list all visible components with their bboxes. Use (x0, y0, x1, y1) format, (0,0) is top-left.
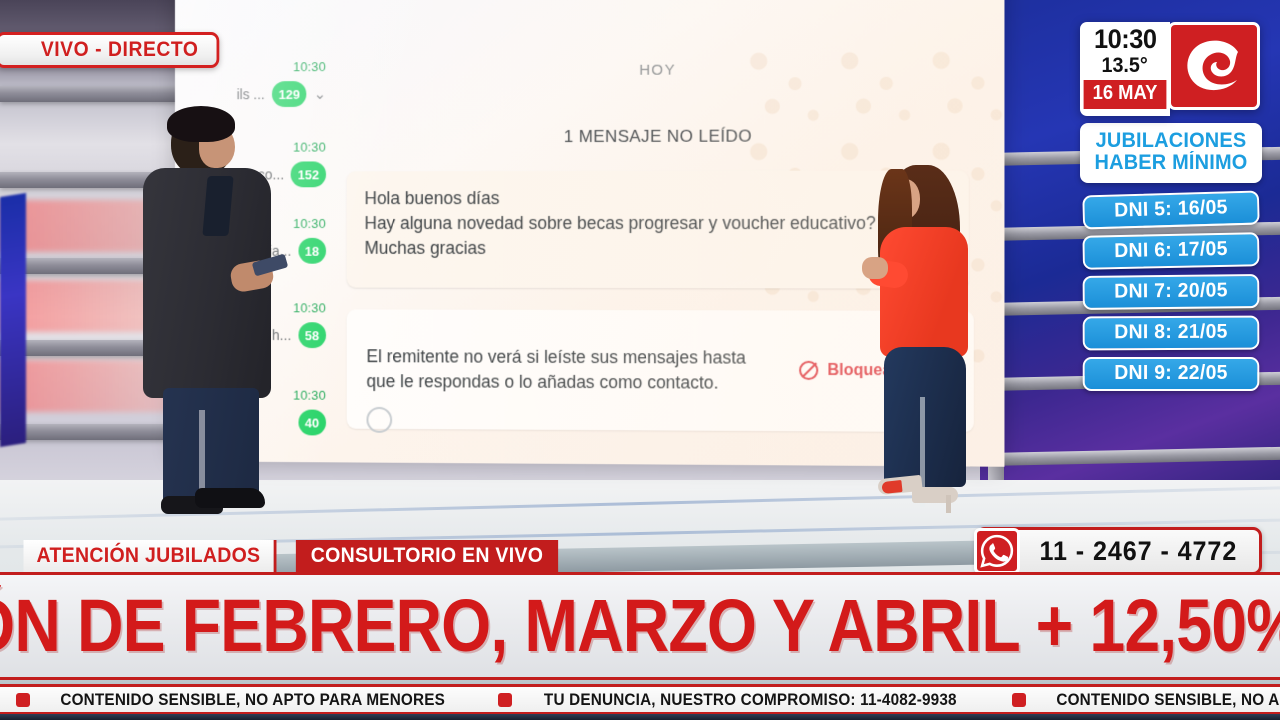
presenter-blouse (880, 227, 968, 357)
unread-count-badge: 129 (272, 81, 307, 107)
ticker-item: CONTENIDO SENSIBLE, NO APTO PARA MENORES (996, 690, 1280, 710)
emoji-icon[interactable] (366, 407, 392, 433)
top-right-graphics: 10:30 13.5° 16 MAY JUBILACIONES HABER MÍ… (1080, 22, 1262, 391)
presenter-jeans (884, 347, 966, 487)
headline-banner: LA INFLACIÓN DE FEBRERO, MARZO Y ABRIL +… (0, 572, 1280, 680)
presenter-shirt (202, 176, 233, 236)
broadcast-frame: 10:30 ils ... 129 ⌄ 10:30 o co... 152 10… (0, 0, 1280, 720)
segment-tag-primary: ATENCIÓN JUBILADOS (24, 540, 277, 572)
topic-chyron: JUBILACIONES HABER MÍNIMO (1080, 123, 1262, 183)
unread-divider: 1 MENSAJE NO LEÍDO (347, 126, 974, 148)
cronica-c-logo (1168, 22, 1260, 110)
chyron-line-1: JUBILACIONES (1092, 130, 1250, 152)
whatsapp-number: 11 - 2467 - 4772 (1040, 536, 1238, 567)
dni-schedule-item: DNI 6: 17/05 (1082, 232, 1259, 269)
current-time: 10:30 (1094, 24, 1157, 55)
female-presenter (868, 165, 978, 520)
chyron-line-2: HABER MÍNIMO (1092, 152, 1250, 174)
ticker-text: CONTENIDO SENSIBLE, NO APTO PARA MENORES (1056, 690, 1280, 710)
chevron-down-icon[interactable]: ⌄ (314, 85, 326, 103)
unread-count-badge: 152 (291, 161, 326, 187)
ticker-item: CONTENIDO SENSIBLE, NO APTO PARA MENORES (0, 690, 482, 710)
presenter-shoe (912, 487, 958, 503)
dni-schedule-list: DNI 5: 16/05 DNI 6: 17/05 DNI 7: 20/05 D… (1080, 193, 1262, 391)
ticker-text: TU DENUNCIA, NUESTRO COMPROMISO: 11-4082… (544, 690, 957, 710)
current-temperature: 13.5° (1102, 55, 1148, 76)
bullet-icon (16, 693, 30, 707)
message-line-3: Muchas gracias (365, 236, 951, 261)
presenter-heel (946, 495, 951, 513)
dni-schedule-item: DNI 9: 22/05 (1083, 357, 1260, 391)
whatsapp-icon (974, 528, 1020, 574)
dni-schedule-item: DNI 7: 20/05 (1083, 274, 1260, 310)
message-line-2: Hay alguna novedad sobre becas progresar… (365, 211, 951, 236)
bullet-icon (498, 693, 512, 707)
ticker-footer-bar (0, 714, 1280, 720)
date-divider: HOY (347, 60, 974, 80)
clock-logo-block: 10:30 13.5° 16 MAY (1080, 22, 1262, 116)
message-line-1: Hola buenos días (365, 186, 951, 211)
chat-snippet: ils ... (237, 86, 265, 102)
whatsapp-contact-panel: 11 - 2467 - 4772 (976, 527, 1262, 575)
news-ticker: CONTENIDO SENSIBLE, NO APTO PARA MENORES… (0, 684, 1280, 714)
presenter-hair (167, 106, 235, 142)
presenter-shoe (195, 488, 265, 508)
headline-text: LA INFLACIÓN DE FEBRERO, MARZO Y ABRIL +… (0, 589, 1280, 663)
block-icon (799, 361, 818, 380)
male-presenter (143, 110, 273, 510)
unread-count-badge: 40 (298, 410, 326, 436)
unread-count-badge: 18 (298, 238, 326, 264)
segment-tag-secondary: CONSULTORIO EN VIVO (296, 540, 558, 572)
unread-count-badge: 58 (298, 322, 326, 348)
segment-tags: ATENCIÓN JUBILADOS CONSULTORIO EN VIVO (14, 540, 568, 572)
ticker-item: TU DENUNCIA, NUESTRO COMPROMISO: 11-4082… (482, 690, 996, 710)
bullet-icon (1012, 693, 1026, 707)
dni-schedule-item: DNI 5: 16/05 (1082, 191, 1259, 230)
set-blue-panel-left (0, 193, 26, 447)
clock-box: 10:30 13.5° 16 MAY (1080, 22, 1170, 116)
dni-schedule-item: DNI 8: 21/05 (1083, 316, 1260, 351)
presenter-hand (862, 257, 888, 279)
set-shelf (970, 447, 1280, 467)
current-date: 16 MAY (1084, 80, 1167, 109)
ticker-text: CONTENIDO SENSIBLE, NO APTO PARA MENORES (60, 690, 445, 710)
live-badge: VIVO - DIRECTO (0, 32, 220, 68)
presenter-shoe-accent (881, 480, 902, 494)
notice-text: El remitente no verá si leíste sus mensa… (366, 344, 765, 395)
